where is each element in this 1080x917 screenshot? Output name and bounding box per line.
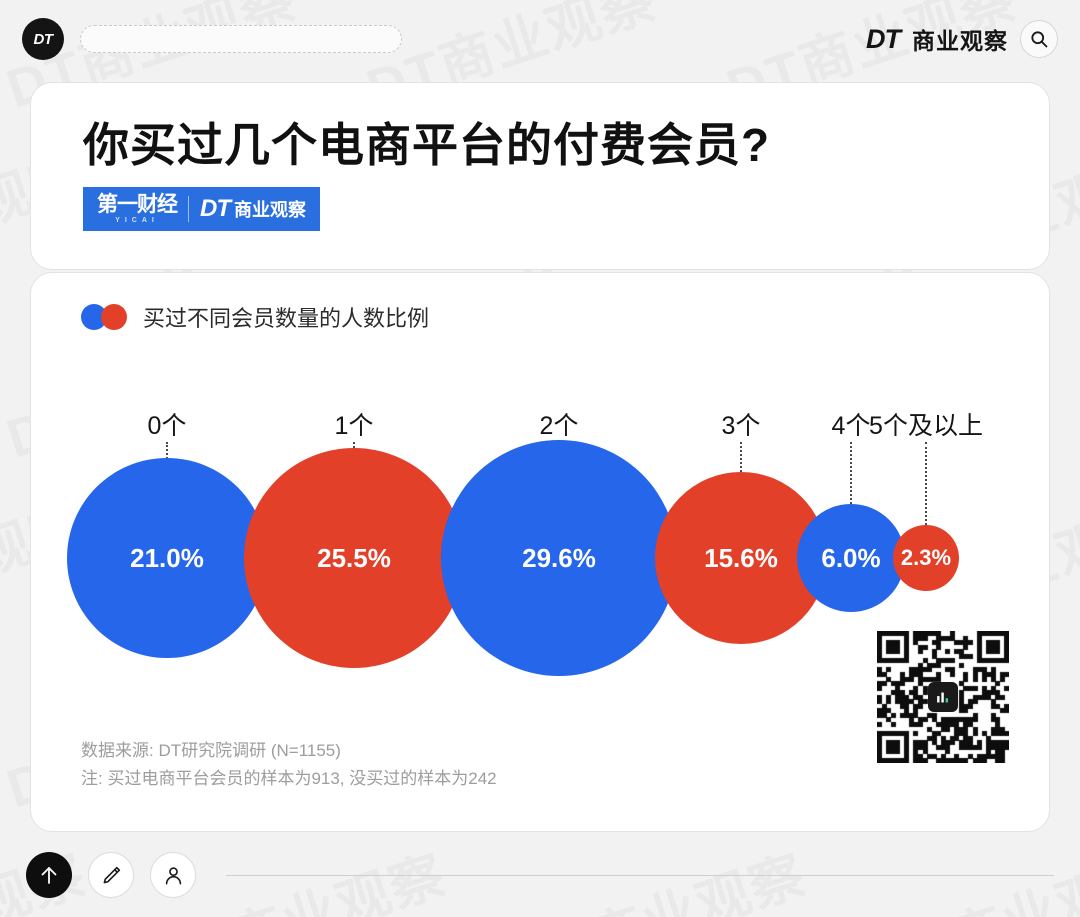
dt-logo-mark: DT (200, 195, 230, 223)
watermark-text: DT商业观察 (1075, 306, 1080, 474)
logo-divider (188, 196, 189, 222)
app-root: DT商业观察DT商业观察DT商业观察DT商业观察DT商业观察DT商业观察DT商业… (0, 0, 1080, 917)
scroll-to-top-button[interactable] (26, 852, 72, 898)
search-button[interactable] (1020, 20, 1058, 58)
dt-logo-cn: 商业观察 (234, 196, 306, 222)
search-icon (1029, 29, 1049, 49)
bubble-category-label: 0个 (148, 406, 187, 442)
chart-card: 买过不同会员数量的人数比例 0个1个2个3个4个5个及以上21.0%25.5%2… (30, 272, 1050, 832)
bubble: 6.0% (797, 504, 905, 612)
bubble-value-label: 25.5% (317, 543, 391, 574)
yicai-logo-cn: 第一财经 (97, 194, 177, 215)
bubble-value-label: 29.6% (522, 543, 596, 574)
comment-input[interactable] (226, 875, 1054, 876)
bubble-category-label: 3个 (722, 406, 761, 442)
bubble-category-label: 5个及以上 (869, 406, 983, 442)
source-note: 数据来源: DT研究院调研 (N=1155) (81, 737, 497, 765)
chart-footnotes: 数据来源: DT研究院调研 (N=1155) 注: 买过电商平台会员的样本为91… (81, 737, 497, 793)
publisher-logo: 第一财经 YICAI DT 商业观察 (83, 187, 320, 231)
bubble-value-label: 15.6% (704, 543, 778, 574)
search-input[interactable] (80, 25, 402, 53)
bubble: 25.5% (244, 448, 464, 668)
top-bar-brand: DT 商业观察 (866, 20, 1058, 58)
bottom-toolbar (0, 833, 1080, 917)
bubble: 21.0% (67, 458, 267, 658)
dt-logo: DT 商业观察 (200, 195, 306, 223)
avatar[interactable]: DT (22, 18, 64, 60)
top-bar: DT DT 商业观察 (0, 0, 1080, 78)
bubble-value-label: 6.0% (821, 543, 880, 574)
yicai-logo: 第一财经 YICAI (97, 194, 177, 224)
person-icon (162, 864, 185, 887)
bubble: 29.6% (441, 440, 677, 676)
bubble: 2.3% (893, 525, 959, 591)
edit-button[interactable] (88, 852, 134, 898)
bubble-category-label: 4个 (832, 406, 871, 442)
bubble-category-label: 1个 (335, 406, 374, 442)
qr-code[interactable] (877, 631, 1009, 763)
page-title: 你买过几个电商平台的付费会员? (83, 109, 770, 175)
brand-cn-text: 商业观察 (912, 22, 1008, 56)
bubble-value-label: 21.0% (130, 543, 204, 574)
watermark-text: DT商业观察 (1075, 656, 1080, 824)
header-card: 你买过几个电商平台的付费会员? 第一财经 YICAI DT 商业观察 (30, 82, 1050, 270)
arrow-up-icon (37, 863, 61, 887)
qr-center-logo (928, 682, 958, 712)
bubble-value-label: 2.3% (901, 545, 951, 571)
bar-chart-icon (935, 689, 952, 706)
profile-button[interactable] (150, 852, 196, 898)
avatar-label: DT (34, 31, 53, 48)
brand-dt-text: DT (866, 24, 900, 55)
bubble-category-label: 2个 (540, 406, 579, 442)
remark-note: 注: 买过电商平台会员的样本为913, 没买过的样本为242 (81, 765, 497, 793)
pencil-icon (100, 864, 123, 887)
yicai-logo-en: YICAI (115, 217, 159, 224)
